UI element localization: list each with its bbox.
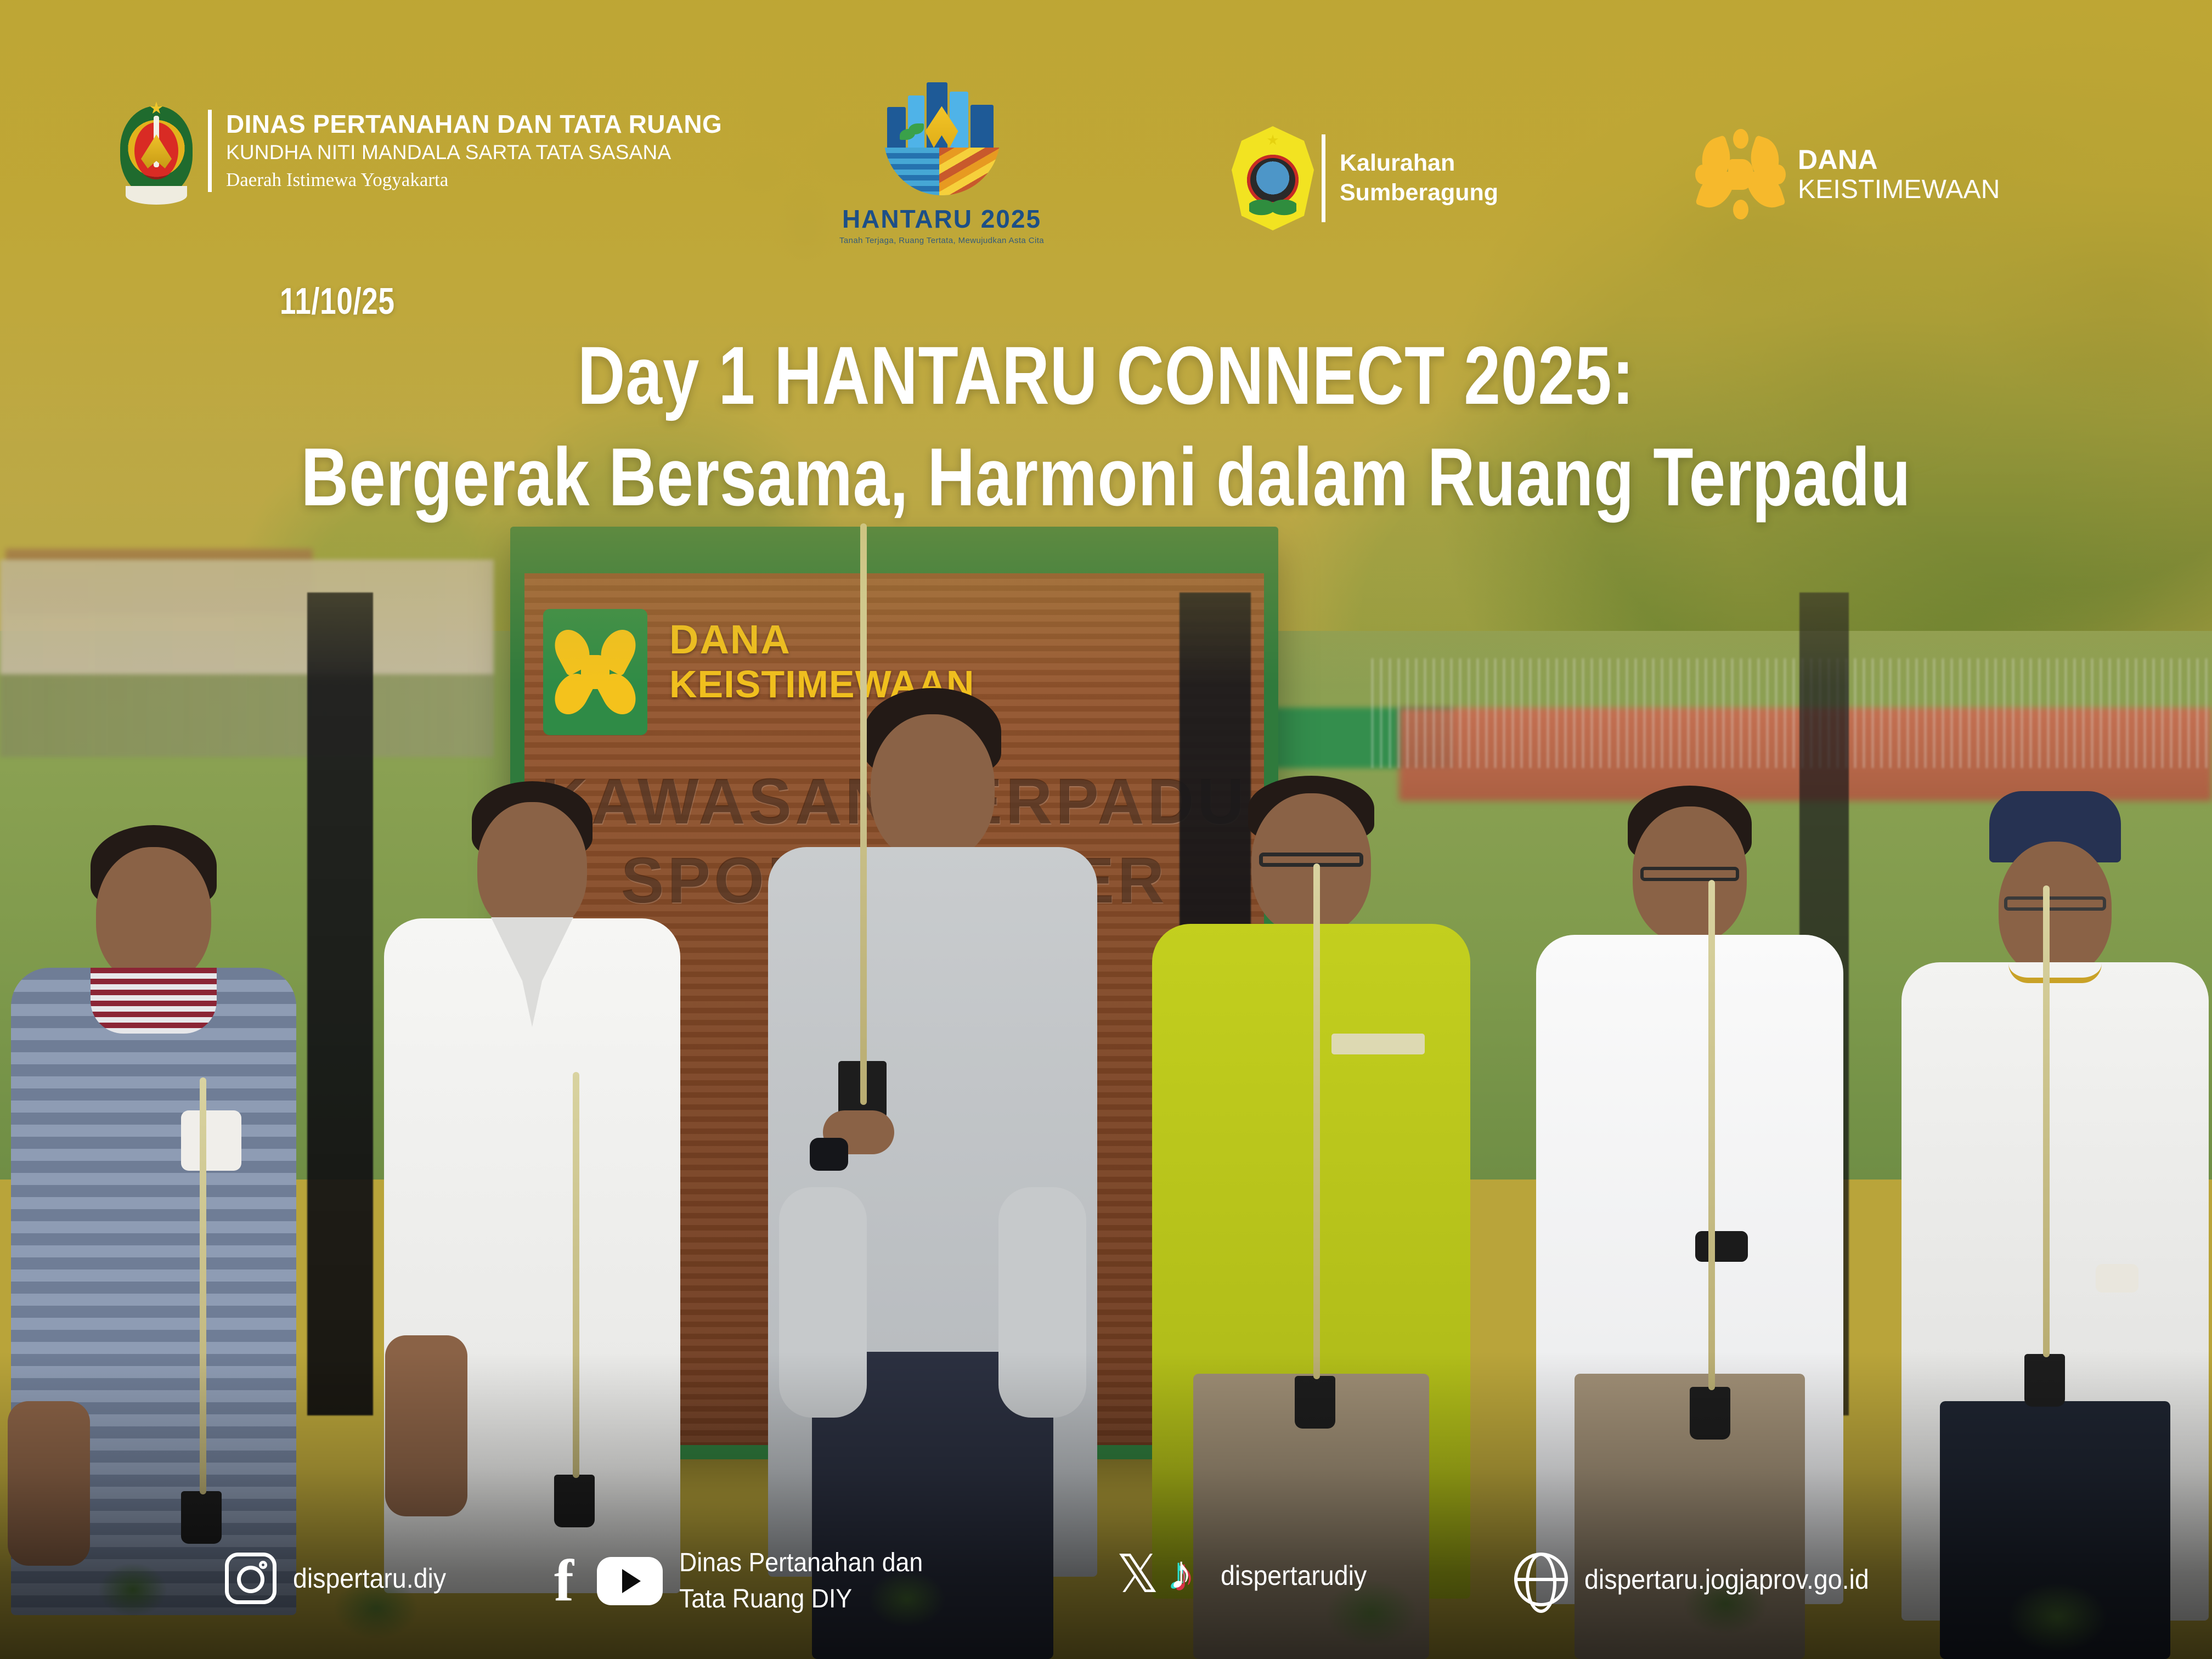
- website-url: dispertaru.jogjaprov.go.id: [1584, 1561, 1869, 1599]
- header-logo-bar: ★ DINAS PERTANAHAN DAN TATA RUANG KUNDHA…: [0, 0, 2212, 263]
- hantaru-logo-name: HANTARU 2025: [842, 204, 1041, 234]
- fb-yt-handle-line-1: Dinas Pertanahan dan: [679, 1548, 923, 1577]
- kalurahan-line-1: Kalurahan: [1340, 149, 1498, 178]
- divider-rule: [208, 110, 212, 192]
- globe-icon: [1514, 1553, 1568, 1606]
- dana-keistimewaan-logo-block: DANA KEISTIMEWAAN: [1695, 129, 2000, 219]
- footer-social-bar: dispertaru.diy f Dinas Pertanahan dan Ta…: [0, 1516, 2212, 1659]
- dana-line-2: KEISTIMEWAAN: [1798, 175, 2000, 205]
- fb-yt-handle-line-2: Tata Ruang DIY: [679, 1584, 852, 1613]
- instagram-icon: [225, 1553, 276, 1604]
- kalurahan-text-block: Kalurahan Sumberagung: [1340, 149, 1498, 208]
- footer-instagram[interactable]: dispertaru.diy: [225, 1553, 458, 1604]
- facebook-icon: f: [554, 1554, 588, 1609]
- eyeglasses: [2004, 896, 2106, 911]
- dana-keistimewaan-logo-icon: [1695, 129, 1786, 219]
- footer-x-tiktok[interactable]: 𝕏 ♪♪♪ dispertarudiy: [1116, 1550, 1378, 1601]
- dinas-line-3: Daerah Istimewa Yogyakarta: [226, 168, 722, 192]
- dana-keistimewaan-text-block: DANA KEISTIMEWAAN: [1798, 144, 2000, 205]
- eyeglasses: [1259, 853, 1363, 867]
- facebook-youtube-handle: Dinas Pertanahan dan Tata Ruang DIY: [679, 1545, 923, 1617]
- instagram-handle: dispertaru.diy: [293, 1560, 446, 1598]
- hantaru-logo-block: HANTARU 2025 Tanah Terjaga, Ruang Tertat…: [839, 71, 1044, 245]
- kalurahan-logo-block: ★ Kalurahan Sumberagung: [1232, 126, 1498, 230]
- x-twitter-icon: 𝕏: [1116, 1550, 1164, 1601]
- eyeglasses: [1640, 867, 1739, 881]
- hantaru-2025-logo-icon: [876, 71, 1008, 203]
- footer-website[interactable]: dispertaru.jogjaprov.go.id: [1514, 1553, 1891, 1606]
- hantaru-logo-tagline: Tanah Terjaga, Ruang Tertata, Mewujudkan…: [839, 236, 1044, 245]
- dinas-line-1: DINAS PERTANAHAN DAN TATA RUANG: [226, 110, 722, 138]
- divider-rule: [1322, 134, 1325, 222]
- hero-title-line-1: Day 1 HANTARU CONNECT 2025:: [221, 329, 1991, 421]
- youtube-icon: [597, 1557, 663, 1605]
- tiktok-handle: dispertarudiy: [1221, 1557, 1367, 1595]
- dark-banner-left: [307, 592, 373, 1415]
- yogyakarta-provincial-emblem-icon: ★: [112, 96, 200, 206]
- hero-title: Day 1 HANTARU CONNECT 2025: Bergerak Ber…: [0, 329, 2212, 524]
- footer-facebook-youtube[interactable]: f Dinas Pertanahan dan Tata Ruang DIY: [554, 1545, 941, 1617]
- hero-title-line-2: Bergerak Bersama, Harmoni dalam Ruang Te…: [221, 430, 1991, 524]
- dinas-text-block: DINAS PERTANAHAN DAN TATA RUANG KUNDHA N…: [226, 110, 722, 192]
- kalurahan-line-2: Sumberagung: [1340, 178, 1498, 208]
- dinas-pertanahan-logo-block: ★ DINAS PERTANAHAN DAN TATA RUANG KUNDHA…: [112, 96, 722, 206]
- dinas-line-2: KUNDHA NITI MANDALA SARTA TATA SASANA: [226, 140, 722, 165]
- kabupaten-bantul-emblem-icon: ★: [1232, 126, 1314, 230]
- tiktok-icon: ♪♪♪: [1169, 1550, 1204, 1601]
- poster-root: DANA KEISTIMEWAAN KAWASAN TERPADU SPORT …: [0, 0, 2212, 1659]
- dana-line-1: DANA: [1798, 144, 2000, 175]
- event-date: 11/10/25: [280, 280, 395, 323]
